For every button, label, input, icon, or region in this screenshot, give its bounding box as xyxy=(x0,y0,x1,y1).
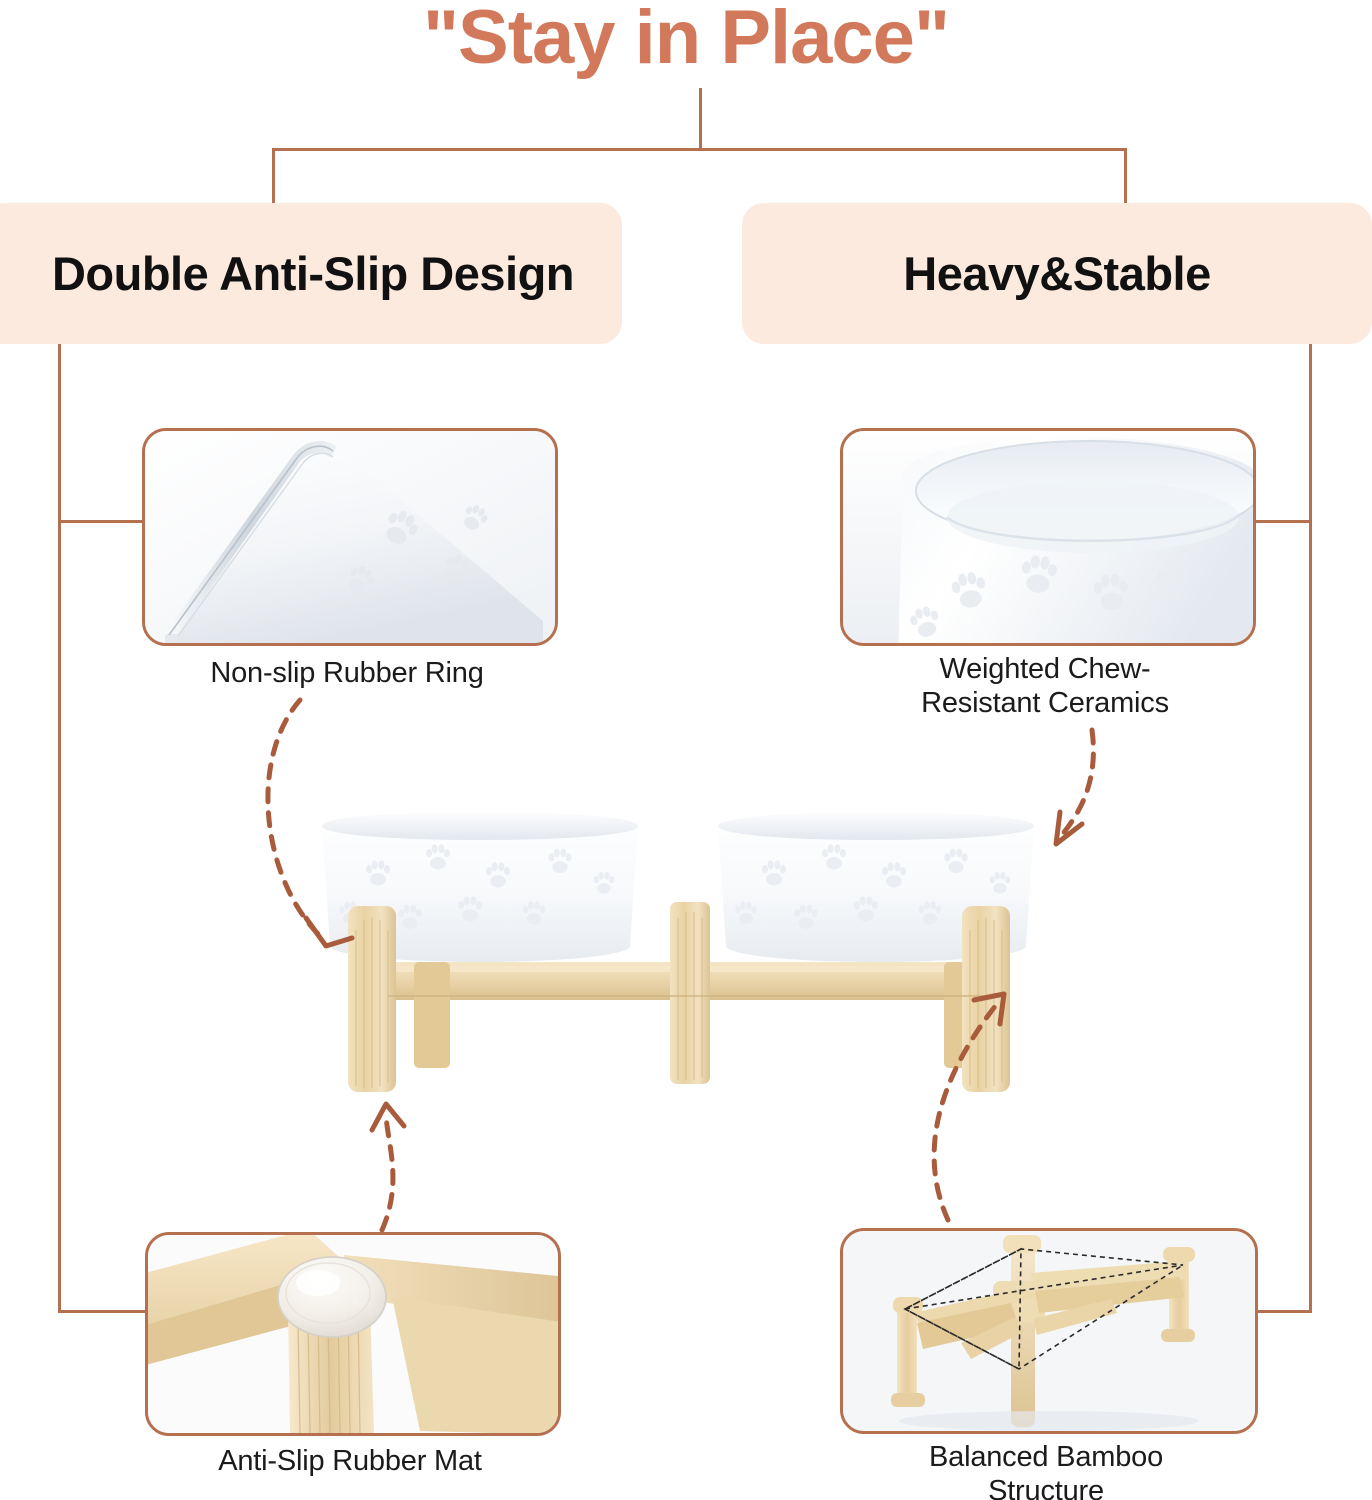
arrow-path-bottom-left xyxy=(382,1112,393,1230)
caption-balanced-bamboo-line1: Balanced Bamboo xyxy=(830,1440,1262,1474)
connector-to-left-pill xyxy=(272,148,275,206)
caption-weighted-ceramics: Weighted Chew- Resistant Ceramics xyxy=(820,652,1270,720)
caption-balanced-bamboo-line2: Structure xyxy=(830,1474,1262,1500)
page-title: "Stay in Place" xyxy=(0,0,1372,81)
connector-title-stem xyxy=(699,88,702,150)
heading-pill-left: Double Anti-Slip Design xyxy=(0,203,622,344)
bowl-underside-illustration xyxy=(145,431,555,643)
photo-weighted-ceramics xyxy=(840,428,1256,646)
caption-balanced-bamboo-structure: Balanced Bamboo Structure xyxy=(830,1440,1262,1500)
infographic-page: "Stay in Place" Double Anti-Slip Design … xyxy=(0,0,1372,1500)
arrow-path-top-right xyxy=(1058,730,1093,840)
rubber-foot-pad-illustration xyxy=(148,1235,558,1433)
arrow-path-top-left xyxy=(268,700,322,938)
caption-weighted-ceramics-line1: Weighted Chew- xyxy=(820,652,1270,686)
bowl-left xyxy=(322,812,638,962)
bamboo-stand xyxy=(348,902,1010,1092)
bowl-right xyxy=(718,812,1034,962)
photo-non-slip-rubber-ring xyxy=(142,428,558,646)
arrow-head-top-right xyxy=(1056,812,1082,844)
caption-non-slip-rubber-ring: Non-slip Rubber Ring xyxy=(142,656,552,690)
rail-right xyxy=(1309,344,1312,1312)
photo-balanced-bamboo-structure xyxy=(840,1228,1258,1434)
bamboo-structure-illustration xyxy=(843,1231,1255,1431)
heading-pill-right: Heavy&Stable xyxy=(742,203,1372,344)
heading-left-label: Double Anti-Slip Design xyxy=(52,246,574,301)
branch-left-bottom xyxy=(58,1310,148,1313)
heading-right-label: Heavy&Stable xyxy=(903,246,1211,301)
caption-weighted-ceramics-line2: Resistant Ceramics xyxy=(820,686,1270,720)
rail-left xyxy=(58,344,61,1312)
photo-anti-slip-rubber-mat xyxy=(145,1232,561,1436)
connector-to-right-pill xyxy=(1124,148,1127,206)
caption-anti-slip-rubber-mat: Anti-Slip Rubber Mat xyxy=(145,1444,555,1478)
connector-title-crossbar xyxy=(272,148,1127,151)
bowl-interior-illustration xyxy=(843,431,1253,643)
arrow-head-top-left xyxy=(306,918,352,946)
arrow-path-bottom-right xyxy=(934,1000,1000,1220)
arrow-head-bottom-right xyxy=(974,994,1004,1024)
branch-left-top xyxy=(58,520,148,523)
arrow-head-bottom-left xyxy=(372,1104,404,1130)
